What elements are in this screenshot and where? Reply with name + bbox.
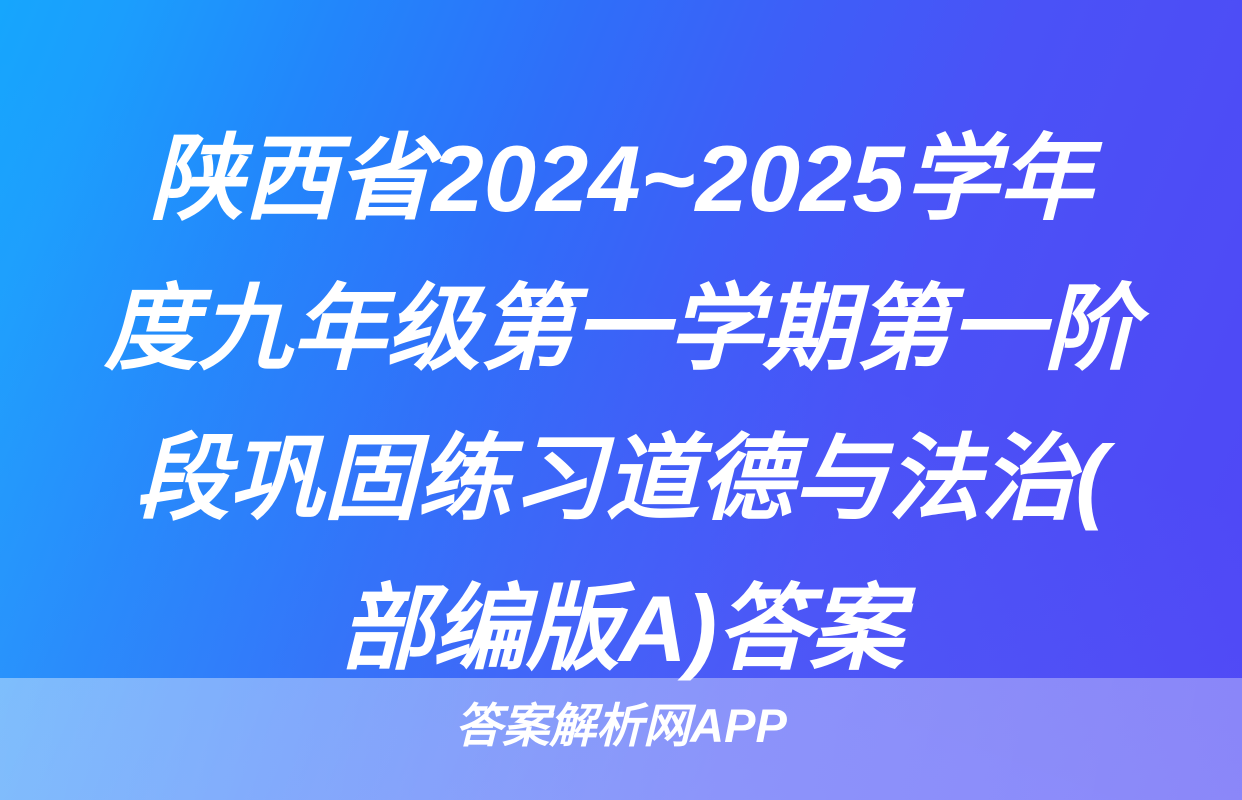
title-line-4: 部编版A)答案 [84,554,1158,704]
title-line-2: 度九年级第一学期第一阶 [84,254,1158,404]
title-line-1: 陕西省2024~2025学年 [84,104,1158,254]
title-line-3: 段巩固练习道德与法治( [84,404,1158,554]
answer-card: 陕西省2024~2025学年 度九年级第一学期第一阶 段巩固练习道德与法治( 部… [0,0,1242,800]
page-title: 陕西省2024~2025学年 度九年级第一学期第一阶 段巩固练习道德与法治( 部… [0,104,1242,704]
brand-watermark: 答案解析网APP [0,697,1242,755]
